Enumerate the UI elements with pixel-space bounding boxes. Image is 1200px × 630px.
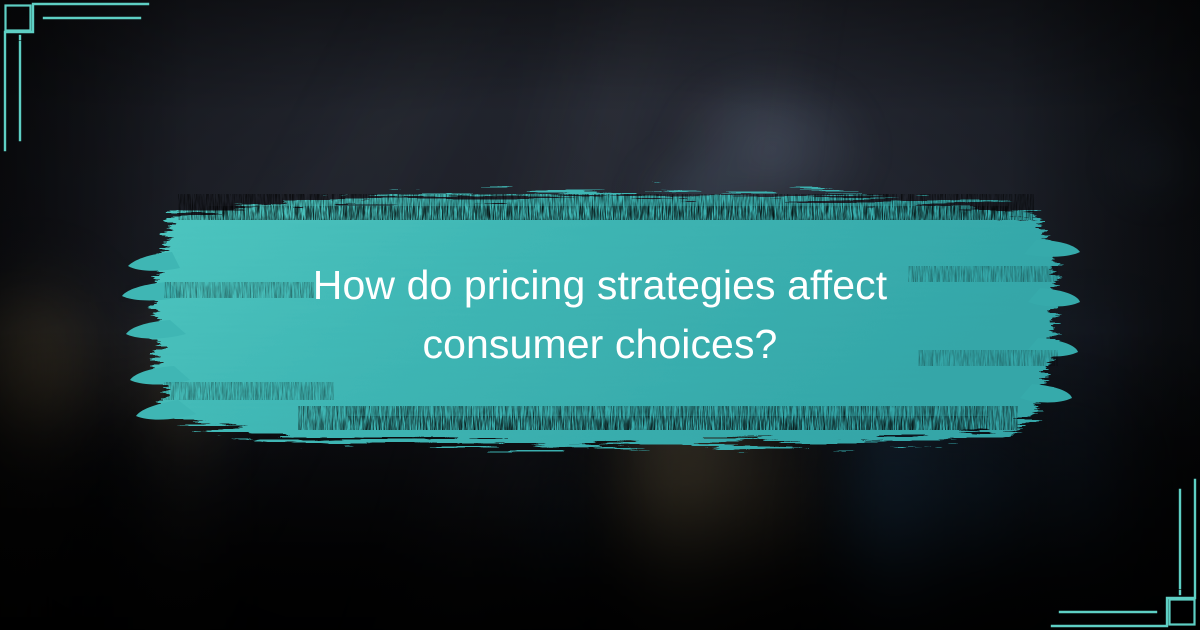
headline-line-2: consumer choices? [423,315,778,374]
corner-square-icon [1170,600,1195,625]
headline-brush-banner: How do pricing strategies affect consume… [118,170,1082,460]
share-card: How do pricing strategies affect consume… [0,0,1200,630]
corner-outer-bracket-line [5,4,148,150]
corner-outer-bracket-line [1052,480,1195,626]
headline-line-1: How do pricing strategies affect [313,256,887,315]
headline-text-block: How do pricing strategies affect consume… [118,170,1082,460]
corner-square-icon [6,6,31,31]
